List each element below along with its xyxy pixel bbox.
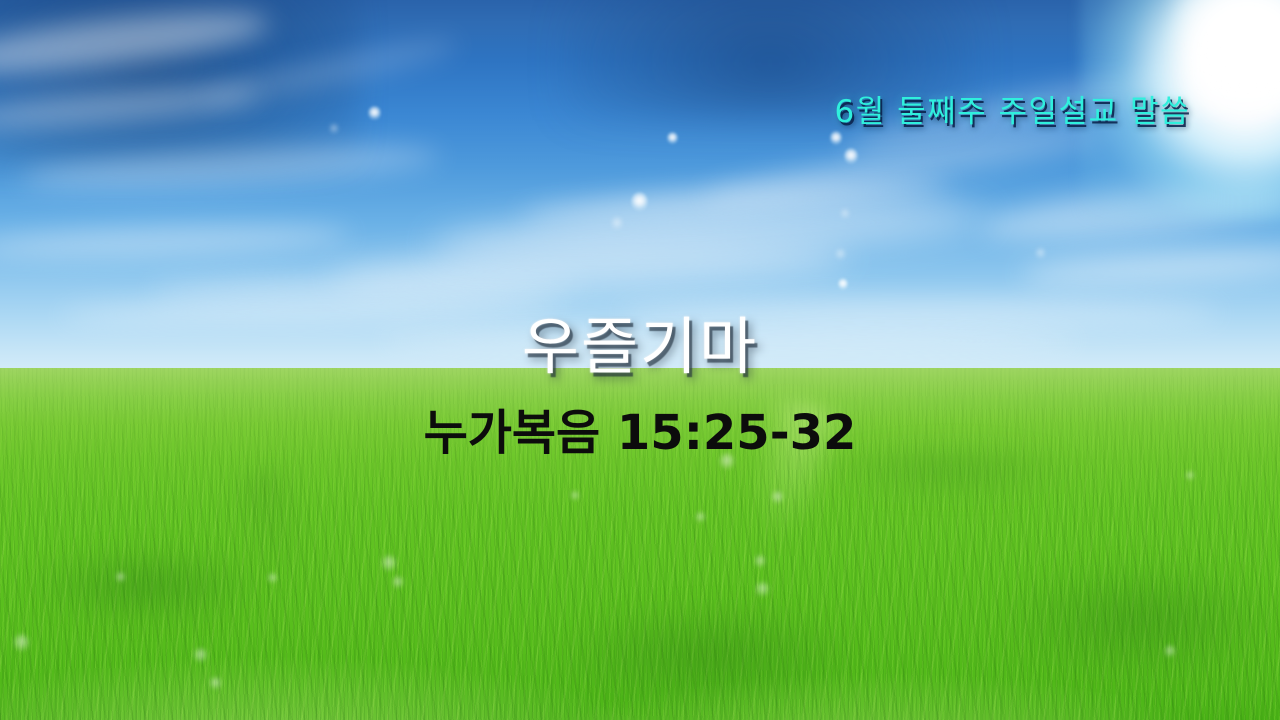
grass-dark-patch (30, 545, 260, 625)
sun-core-icon (1178, 0, 1280, 110)
scripture-reference: 누가복음 15:25-32 (0, 393, 1280, 463)
grass-dark-patch (1000, 560, 1280, 680)
sermon-series-label: 6월 둘째주 주일설교 말씀 (0, 86, 1190, 131)
sermon-title: 우즐기마 (0, 296, 1280, 386)
grass-dark-patch (560, 600, 860, 710)
sermon-title-slide: 6월 둘째주 주일설교 말씀 우즐기마 누가복음 15:25-32 (0, 0, 1280, 720)
